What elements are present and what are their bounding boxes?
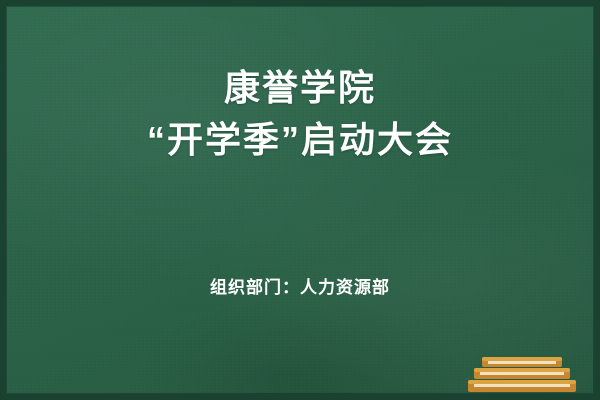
slide-title: 康誉学院 “开学季”启动大会 <box>0 62 600 166</box>
subtitle-line-1: 组织部门：人力资源部 <box>0 275 600 301</box>
stacked-books-icon <box>462 348 582 394</box>
slide-subtitle: 组织部门：人力资源部 <box>0 275 600 301</box>
title-line-1: 康誉学院 <box>0 62 600 114</box>
title-line-2: “开学季”启动大会 <box>0 114 600 166</box>
presentation-slide: 康誉学院 “开学季”启动大会 组织部门：人力资源部 <box>0 0 600 400</box>
slide-border <box>0 0 600 400</box>
